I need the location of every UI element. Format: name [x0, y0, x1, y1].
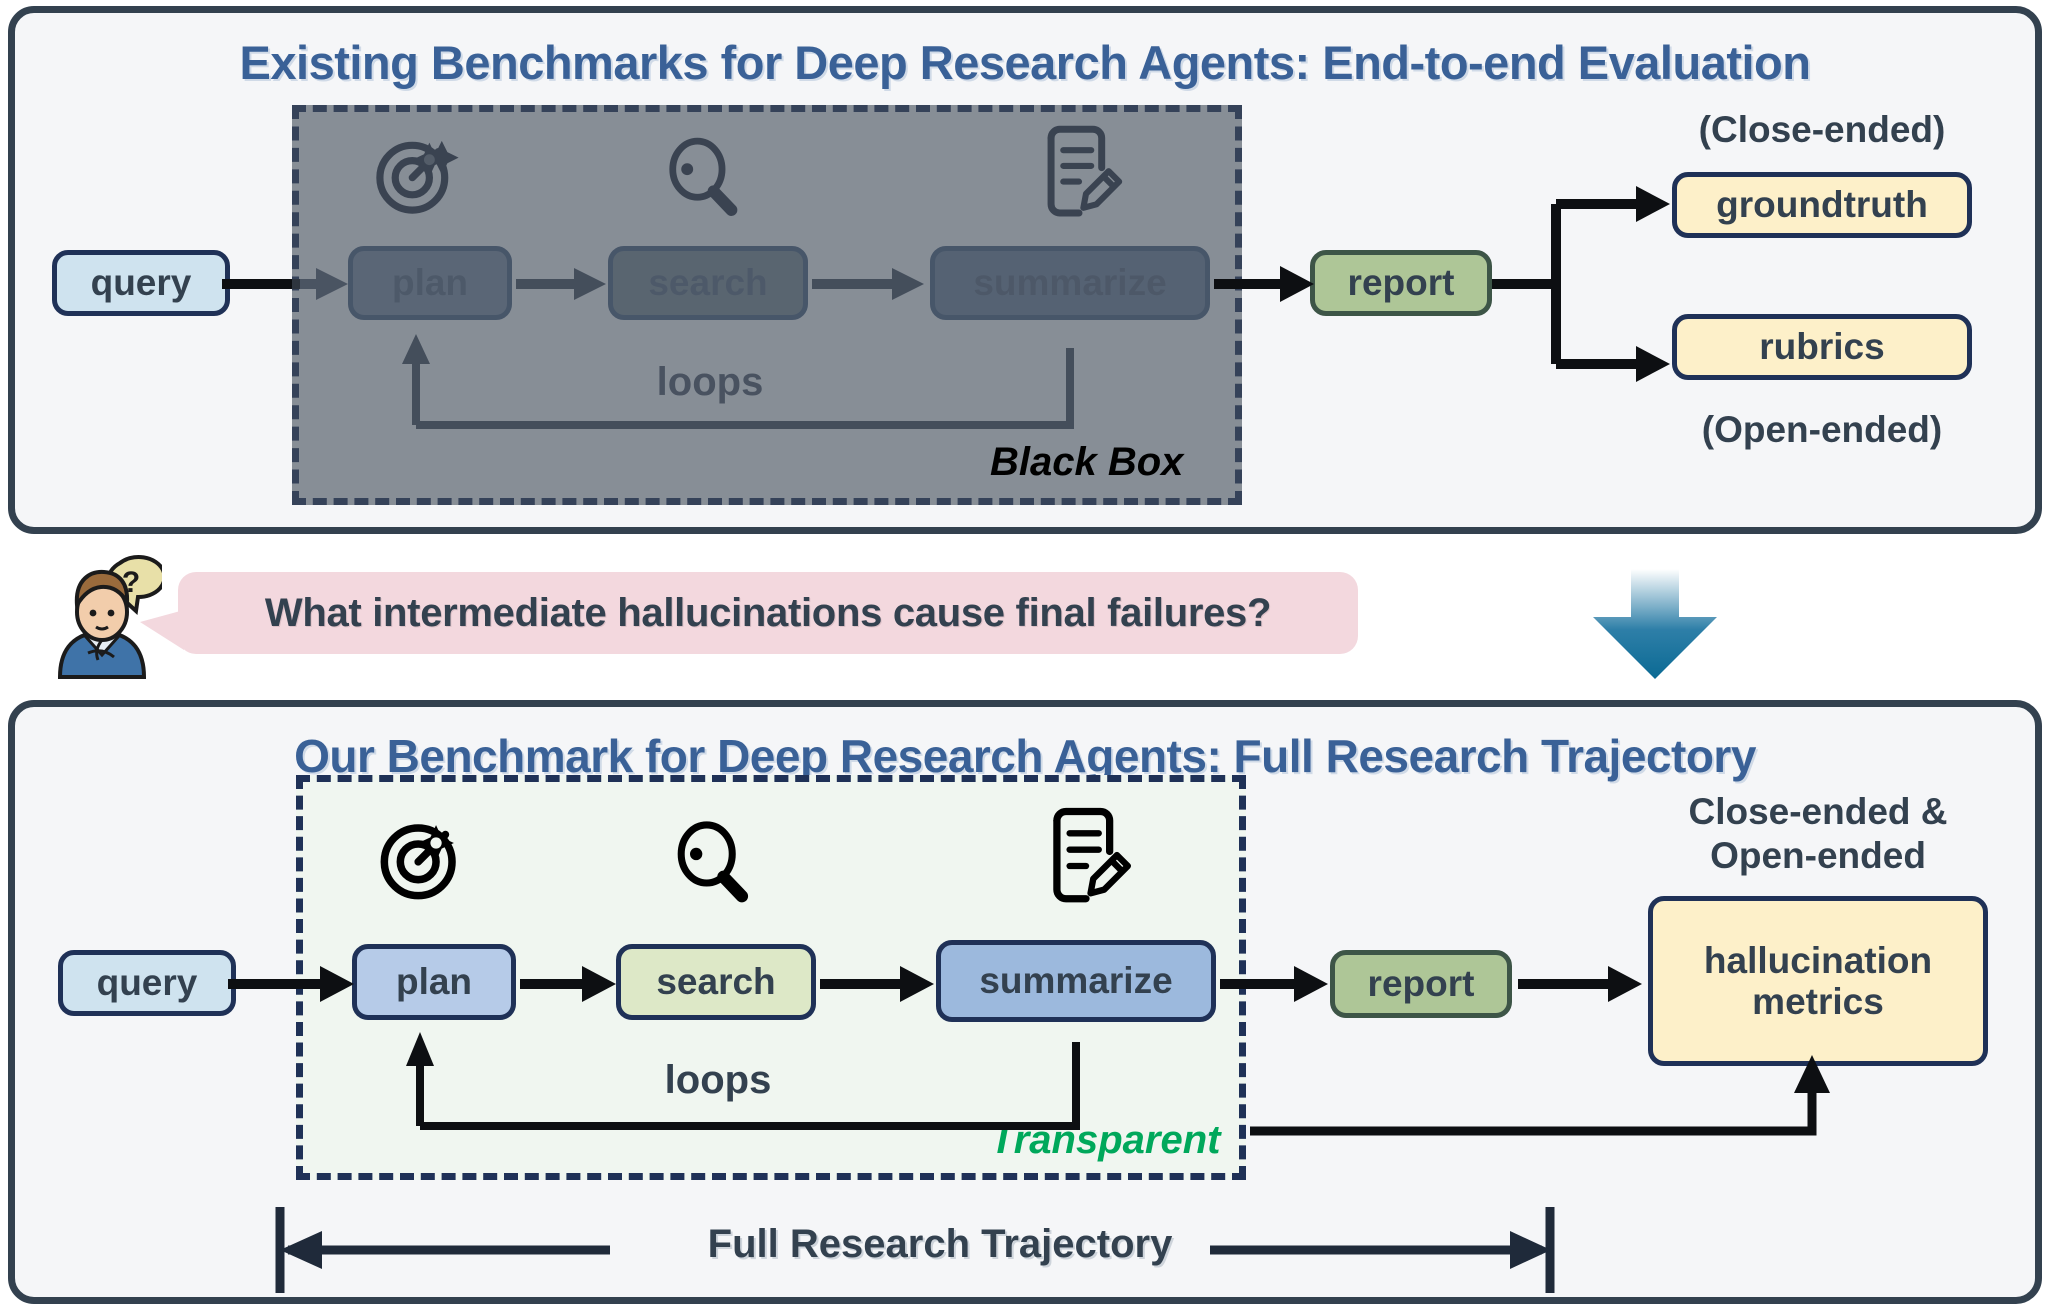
arrow-plan-to-search-top: [516, 262, 608, 306]
arrow-query-to-plan-top: [222, 262, 350, 306]
document-edit-icon: [1040, 806, 1132, 906]
arrow-search-to-summarize-top: [812, 262, 928, 306]
plan-node-top[interactable]: plan: [348, 246, 512, 320]
document-edit-icon: [1035, 124, 1123, 220]
magnifier-icon: [668, 815, 756, 907]
metrics-line-2: metrics: [1752, 981, 1884, 1022]
report-node-top[interactable]: report: [1310, 250, 1492, 316]
question-speech-bubble: What intermediate hallucinations cause f…: [178, 572, 1358, 654]
arrow-plan-to-search-bottom: [520, 962, 618, 1006]
eval-note-line-2: Open-ended: [1648, 834, 1988, 878]
target-icon: [374, 812, 468, 906]
search-node-top[interactable]: search: [608, 246, 808, 320]
arrow-summarize-to-report-top: [1214, 262, 1318, 306]
full-research-trajectory-label: Full Research Trajectory: [620, 1222, 1260, 1267]
top-panel-title: Existing Benchmarks for Deep Research Ag…: [15, 35, 2035, 90]
rubrics-node[interactable]: rubrics: [1672, 314, 1972, 380]
magnifier-icon: [660, 132, 745, 220]
query-node-top[interactable]: query: [52, 250, 230, 316]
target-icon: [370, 130, 460, 220]
loops-label-bottom: loops: [608, 1058, 828, 1103]
report-node-bottom[interactable]: report: [1330, 950, 1512, 1018]
eval-note-line-1: Close-ended &: [1648, 790, 1988, 834]
plan-node-bottom[interactable]: plan: [352, 944, 516, 1020]
trajectory-to-metrics-connector: [1250, 1055, 1850, 1175]
black-box-label: Black Box: [990, 440, 1183, 485]
summarize-node-top[interactable]: summarize: [930, 246, 1210, 320]
close-ended-note: (Close-ended): [1672, 108, 1972, 152]
arrow-report-to-metrics: [1518, 962, 1644, 1006]
arrow-query-to-plan-bottom: [228, 962, 356, 1006]
query-node-bottom[interactable]: query: [58, 950, 236, 1016]
arrow-search-to-summarize-bottom: [820, 962, 936, 1006]
search-node-bottom[interactable]: search: [616, 944, 816, 1020]
open-ended-note: (Open-ended): [1672, 408, 1972, 452]
groundtruth-node[interactable]: groundtruth: [1672, 172, 1972, 238]
report-branch-connector: [1492, 186, 1692, 386]
loops-label-top: loops: [600, 360, 820, 405]
arrow-summarize-to-report-bottom: [1220, 962, 1330, 1006]
down-arrow-icon: [1565, 565, 1745, 685]
metrics-line-1: hallucination: [1704, 940, 1932, 981]
summarize-node-bottom[interactable]: summarize: [936, 940, 1216, 1022]
hallucination-metrics-node[interactable]: hallucination metrics: [1648, 896, 1988, 1066]
close-open-ended-note: Close-ended & Open-ended: [1648, 790, 1988, 879]
